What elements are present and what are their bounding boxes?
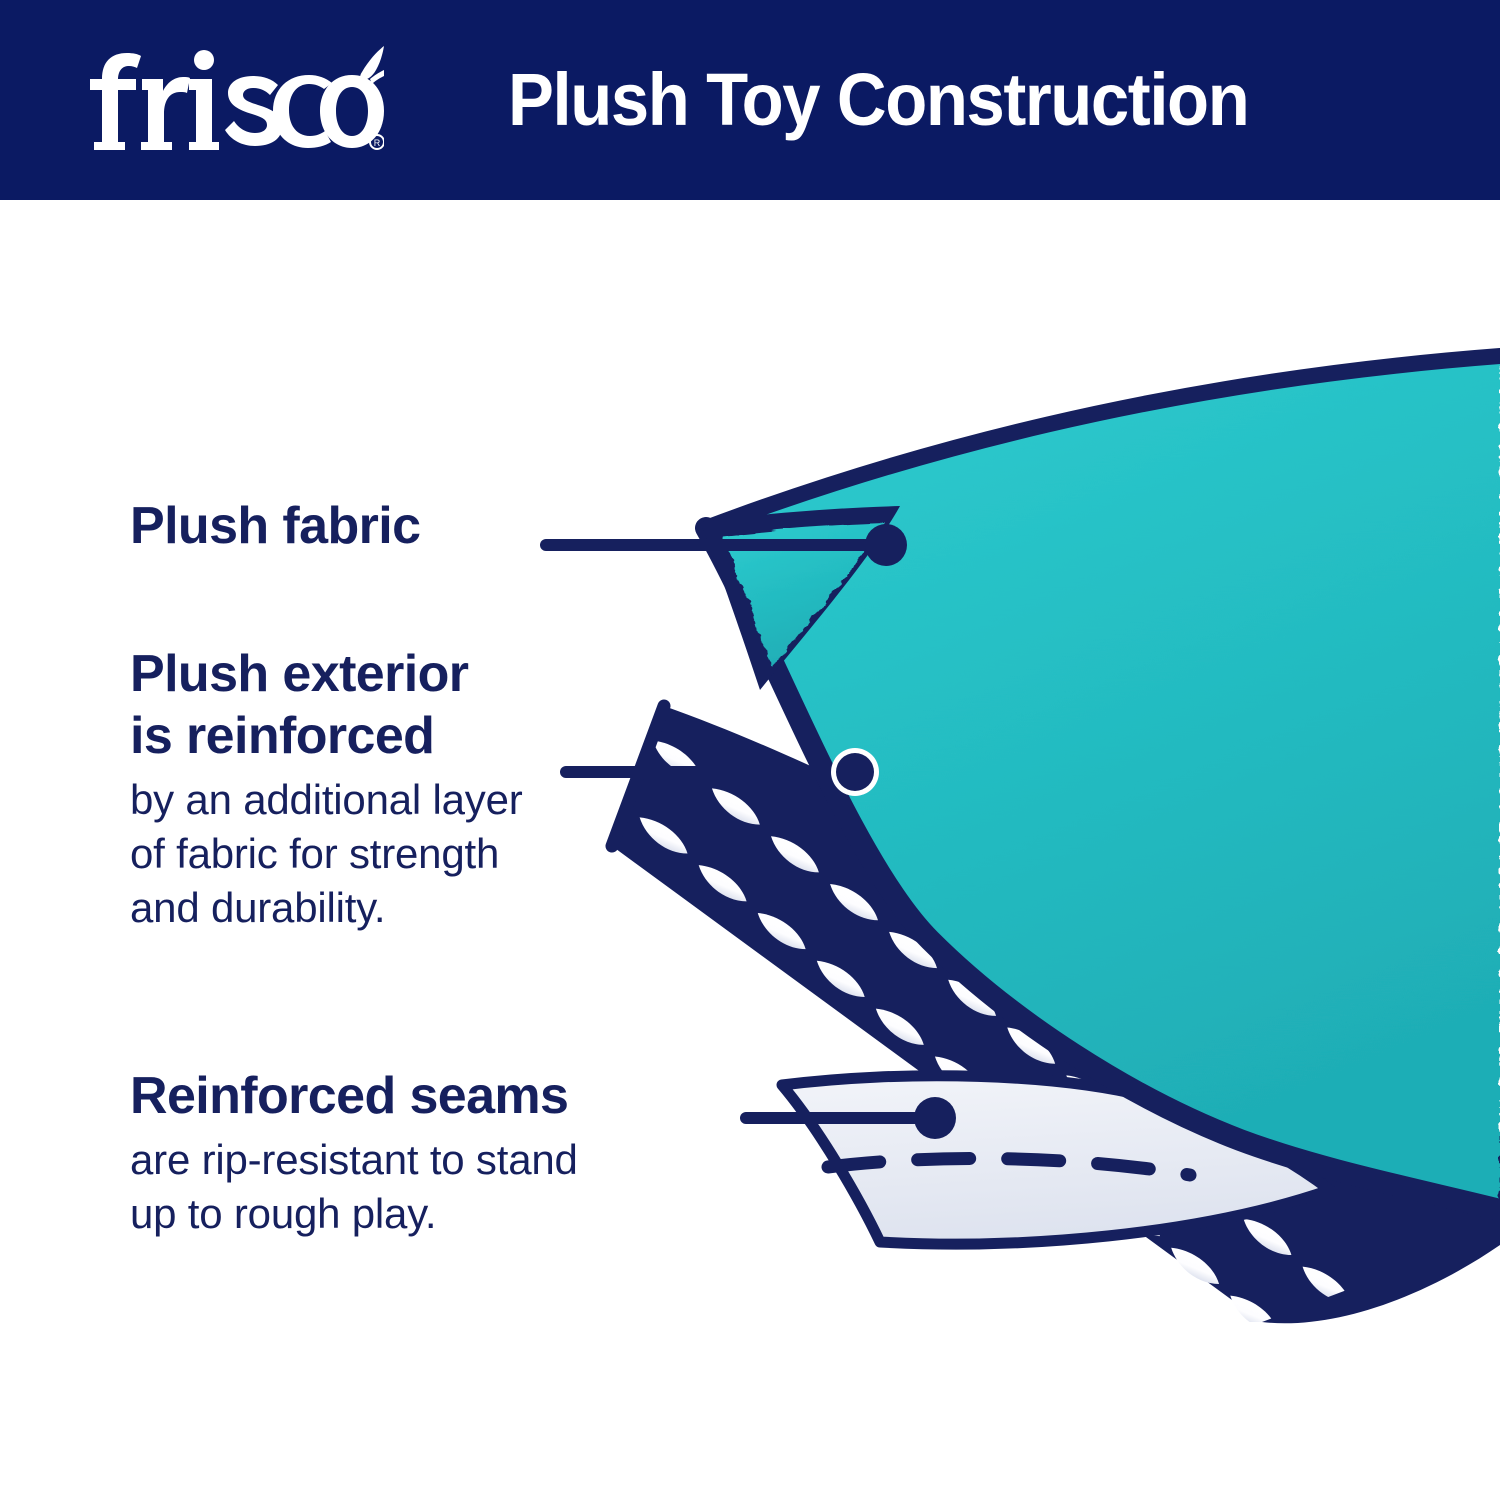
callout-dot-halo-plush-exterior (831, 748, 879, 796)
callout-heading-reinforced-seams: Reinforced seams (130, 1065, 578, 1127)
callout-text-column: Plush fabric Plush exterior is reinforce… (130, 200, 810, 1500)
callout-body-reinforced-seams: are rip-resistant to stand up to rough p… (130, 1133, 578, 1241)
page-title: Plush Toy Construction (508, 50, 1248, 150)
callout-plush-exterior-reinforced: Plush exterior is reinforced by an addit… (130, 643, 523, 935)
callout-dot-reinforced-seams (914, 1097, 956, 1139)
callout-dot-plush-exterior (836, 753, 874, 791)
plush-fabric-teal-panel (700, 356, 1500, 1210)
page-header: R Plush Toy Construction (0, 0, 1500, 200)
callout-dot-plush-fabric (865, 524, 907, 566)
callout-reinforced-seams: Reinforced seams are rip-resistant to st… (130, 1065, 578, 1241)
seam-stitch-dashes (828, 1158, 1190, 1175)
callout-body-plush-exterior: by an additional layer of fabric for str… (130, 773, 523, 935)
reinforced-seam-flap (782, 1076, 1330, 1244)
svg-text:R: R (374, 138, 381, 148)
callout-heading-plush-exterior: Plush exterior is reinforced (130, 643, 523, 767)
callout-heading-plush-fabric: Plush fabric (130, 495, 420, 557)
infographic-page: R Plush Toy Construction (0, 0, 1500, 1500)
callout-plush-fabric: Plush fabric (130, 495, 420, 557)
frisco-logo: R (84, 46, 384, 154)
